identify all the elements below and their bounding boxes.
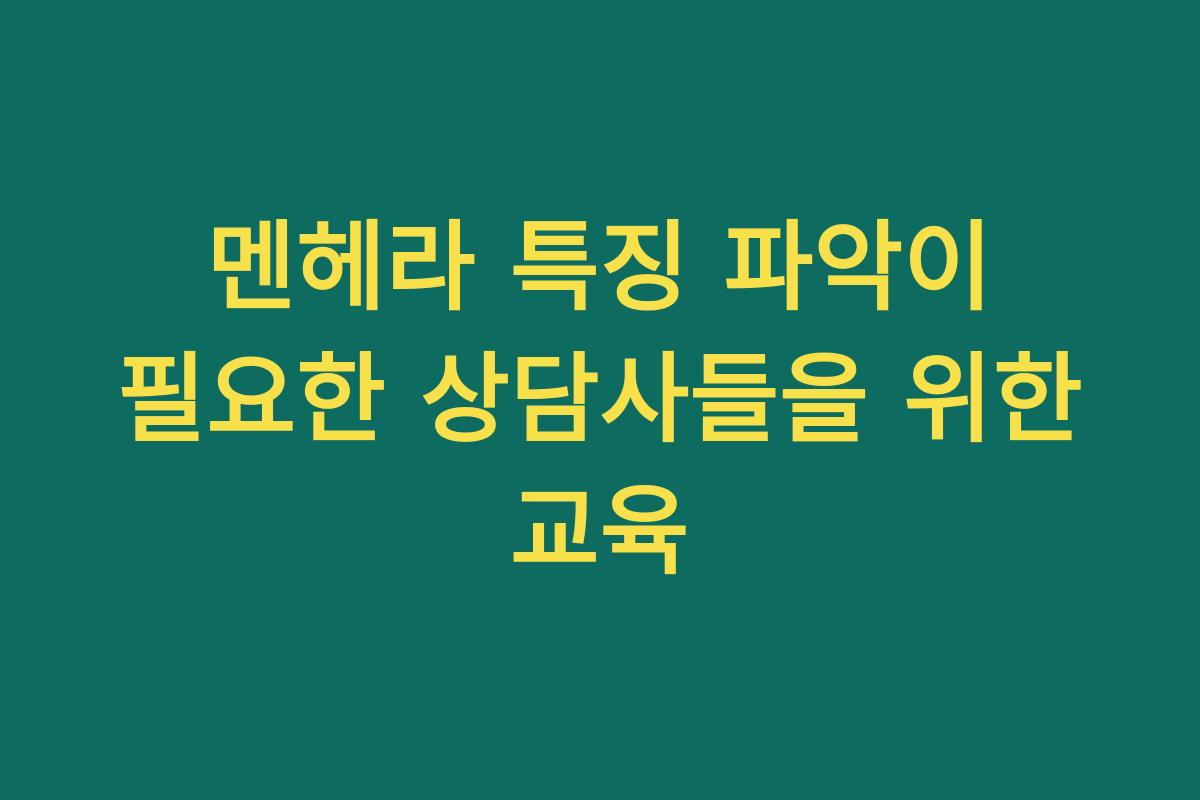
banner-canvas: 멘헤라 특징 파악이 필요한 상담사들을 위한 교육 bbox=[0, 0, 1200, 800]
banner-headline: 멘헤라 특징 파악이 필요한 상담사들을 위한 교육 bbox=[72, 202, 1128, 598]
